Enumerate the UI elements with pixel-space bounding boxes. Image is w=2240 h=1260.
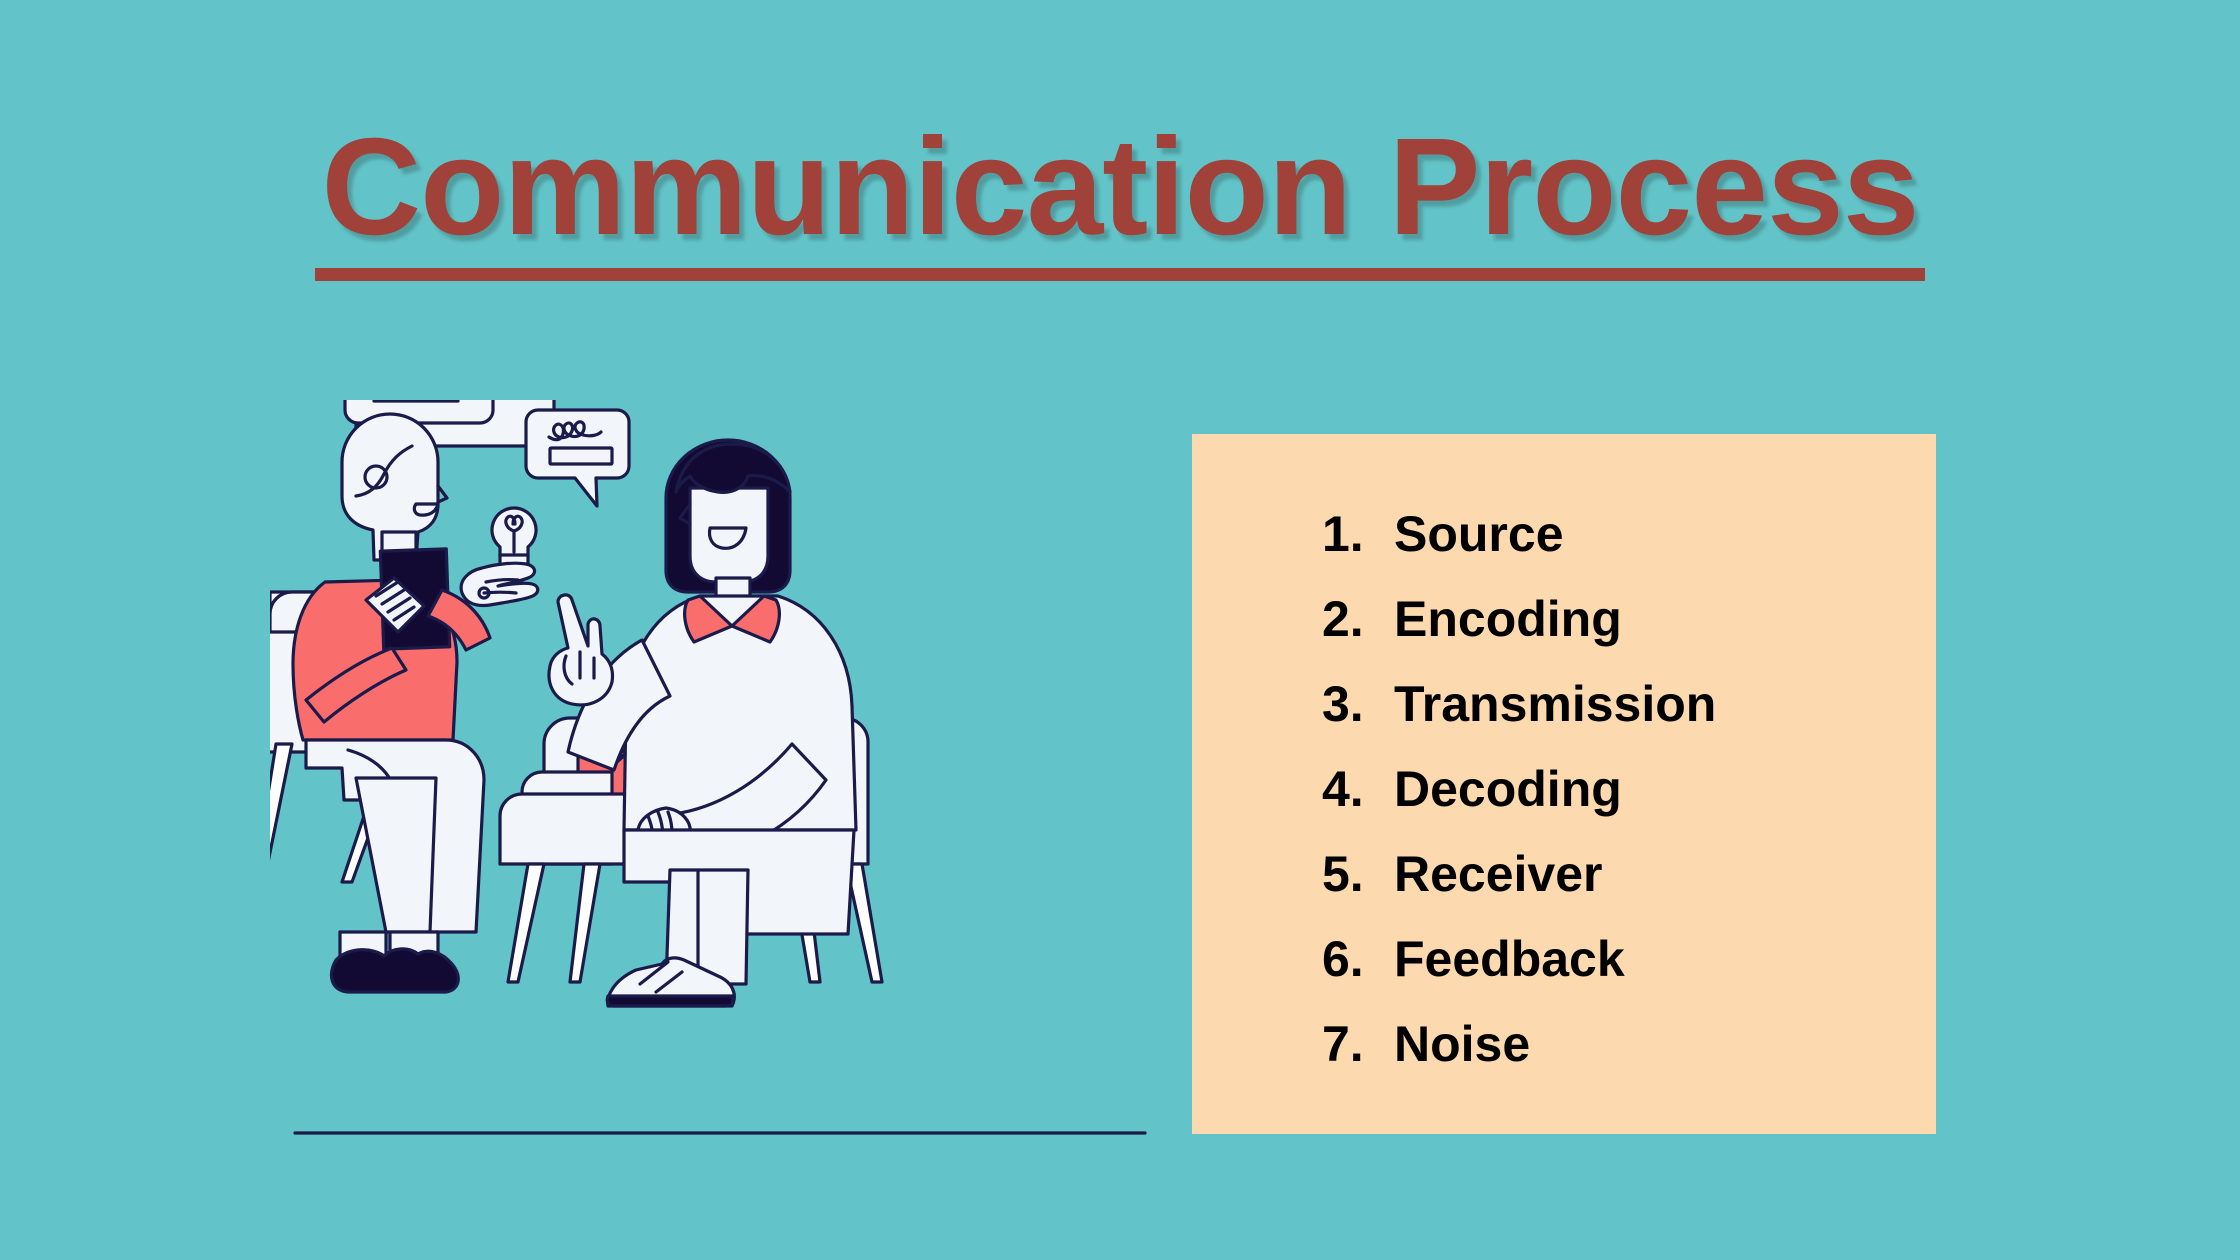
steps-list: 1. Source 2. Encoding 3. Transmission 4.… xyxy=(1322,492,1716,1087)
list-item-number: 3. xyxy=(1322,662,1394,747)
list-item-label: Decoding xyxy=(1394,747,1622,832)
person-right xyxy=(549,440,856,1006)
steps-card: 1. Source 2. Encoding 3. Transmission 4.… xyxy=(1192,434,1936,1134)
list-item: 6. Feedback xyxy=(1322,917,1716,1002)
list-item-label: Feedback xyxy=(1394,917,1625,1002)
list-item-number: 7. xyxy=(1322,1002,1394,1087)
list-item: 7. Noise xyxy=(1322,1002,1716,1087)
person-left xyxy=(293,414,538,992)
conversation-illustration: .ol { fill:none; stroke:#1b1b4b; stroke-… xyxy=(270,400,1170,1160)
list-item-number: 2. xyxy=(1322,577,1394,662)
list-item: 5. Receiver xyxy=(1322,832,1716,917)
slide-root: Communication Process .ol { fill:none; s… xyxy=(0,0,2240,1260)
list-item-label: Source xyxy=(1394,492,1564,577)
list-item-number: 4. xyxy=(1322,747,1394,832)
list-item-number: 5. xyxy=(1322,832,1394,917)
list-item-label: Encoding xyxy=(1394,577,1622,662)
list-item-label: Receiver xyxy=(1394,832,1603,917)
list-item: 1. Source xyxy=(1322,492,1716,577)
illustration-svg: .ol { fill:none; stroke:#1b1b4b; stroke-… xyxy=(270,400,1170,1160)
question-mark-glyph: ? xyxy=(466,400,484,402)
list-item: 2. Encoding xyxy=(1322,577,1716,662)
title-block: Communication Process xyxy=(0,118,2240,281)
list-item-label: Transmission xyxy=(1394,662,1716,747)
list-item-label: Noise xyxy=(1394,1002,1530,1087)
speech-bubble-scribble xyxy=(526,410,629,506)
list-item-number: 6. xyxy=(1322,917,1394,1002)
list-item-number: 1. xyxy=(1322,492,1394,577)
list-item: 3. Transmission xyxy=(1322,662,1716,747)
list-item: 4. Decoding xyxy=(1322,747,1716,832)
page-title: Communication Process xyxy=(315,118,1924,281)
